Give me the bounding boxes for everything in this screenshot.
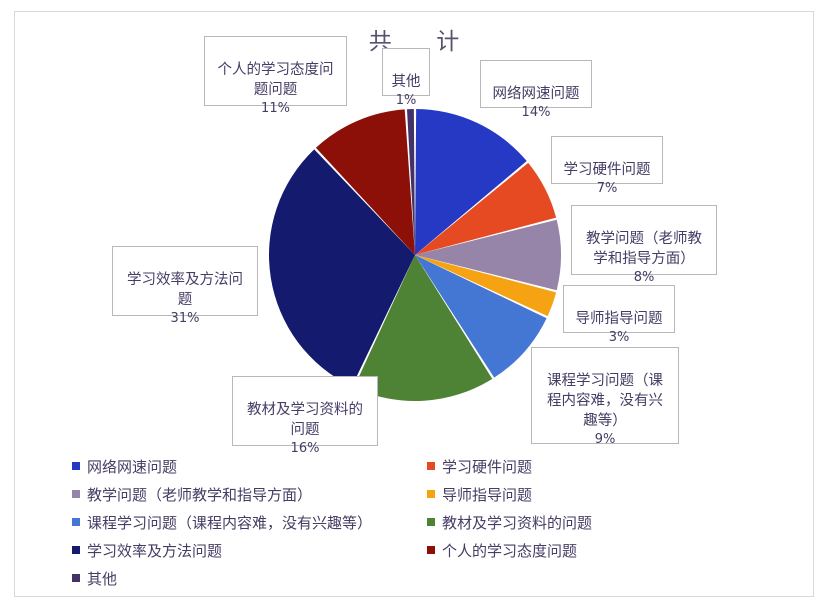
legend-swatch-icon <box>72 490 80 498</box>
callout-efficiency-label: 学习效率及方法问 题 <box>127 272 243 308</box>
legend-item[interactable]: 教材及学习资料的问题 <box>427 508 592 536</box>
legend-swatch-icon <box>427 546 435 554</box>
legend-item[interactable]: 学习硬件问题 <box>427 452 532 480</box>
legend-item-label: 导师指导问题 <box>442 484 532 505</box>
legend-item[interactable]: 课程学习问题（课程内容难，没有兴趣等） <box>72 508 372 536</box>
callout-course-pct: 9% <box>536 431 674 449</box>
callout-hardware-pct: 7% <box>556 180 658 198</box>
callout-attitude: 个人的学习态度问 题问题 11% <box>204 36 347 106</box>
legend-item[interactable]: 导师指导问题 <box>427 480 532 508</box>
callout-efficiency-pct: 31% <box>117 310 253 328</box>
callout-hardware: 学习硬件问题 7% <box>551 136 663 184</box>
callout-tutor-label: 导师指导问题 <box>576 311 663 327</box>
legend-item-label: 学习效率及方法问题 <box>87 540 222 561</box>
legend-row: 教学问题（老师教学和指导方面）导师指导问题 <box>72 480 712 508</box>
legend-item-label: 教学问题（老师教学和指导方面） <box>87 484 312 505</box>
legend-item-label: 学习硬件问题 <box>442 456 532 477</box>
legend-item[interactable]: 其他 <box>72 564 117 592</box>
legend-item-label: 课程学习问题（课程内容难，没有兴趣等） <box>87 512 372 533</box>
callout-tutor: 导师指导问题 3% <box>563 285 675 333</box>
legend-item[interactable]: 网络网速问题 <box>72 452 177 480</box>
callout-network-label: 网络网速问题 <box>493 86 580 102</box>
legend-item-label: 教材及学习资料的问题 <box>442 512 592 533</box>
legend-row: 网络网速问题学习硬件问题 <box>72 452 712 480</box>
callout-course-label: 课程学习问题（课 程内容难，没有兴 趣等） <box>547 373 663 429</box>
chart-legend: 网络网速问题学习硬件问题教学问题（老师教学和指导方面）导师指导问题课程学习问题（… <box>72 452 712 592</box>
callout-efficiency: 学习效率及方法问 题 31% <box>112 246 258 316</box>
legend-item-label: 其他 <box>87 568 117 589</box>
legend-row: 学习效率及方法问题个人的学习态度问题 <box>72 536 712 564</box>
callout-teaching: 教学问题（老师教 学和指导方面） 8% <box>571 205 717 275</box>
callout-material: 教材及学习资料的 问题 16% <box>232 376 378 446</box>
callout-other-pct: 1% <box>387 92 425 110</box>
legend-swatch-icon <box>72 518 80 526</box>
legend-item-label: 网络网速问题 <box>87 456 177 477</box>
legend-swatch-icon <box>427 462 435 470</box>
legend-row: 课程学习问题（课程内容难，没有兴趣等）教材及学习资料的问题 <box>72 508 712 536</box>
callout-material-label: 教材及学习资料的 问题 <box>247 402 363 438</box>
legend-swatch-icon <box>72 574 80 582</box>
callout-tutor-pct: 3% <box>568 329 670 347</box>
callout-attitude-pct: 11% <box>209 100 342 118</box>
callout-teaching-label: 教学问题（老师教 学和指导方面） <box>586 231 702 267</box>
callout-other-label: 其他 <box>392 74 421 90</box>
legend-row: 其他 <box>72 564 712 592</box>
callout-other: 其他 1% <box>382 48 430 96</box>
callout-network: 网络网速问题 14% <box>480 60 592 108</box>
legend-item[interactable]: 教学问题（老师教学和指导方面） <box>72 480 312 508</box>
legend-swatch-icon <box>72 462 80 470</box>
legend-swatch-icon <box>427 518 435 526</box>
legend-swatch-icon <box>427 490 435 498</box>
callout-network-pct: 14% <box>485 104 587 122</box>
callout-hardware-label: 学习硬件问题 <box>564 162 651 178</box>
legend-item[interactable]: 学习效率及方法问题 <box>72 536 222 564</box>
callout-attitude-label: 个人的学习态度问 题问题 <box>218 62 334 98</box>
legend-item[interactable]: 个人的学习态度问题 <box>427 536 577 564</box>
callout-course: 课程学习问题（课 程内容难，没有兴 趣等） 9% <box>531 347 679 444</box>
legend-swatch-icon <box>72 546 80 554</box>
legend-item-label: 个人的学习态度问题 <box>442 540 577 561</box>
